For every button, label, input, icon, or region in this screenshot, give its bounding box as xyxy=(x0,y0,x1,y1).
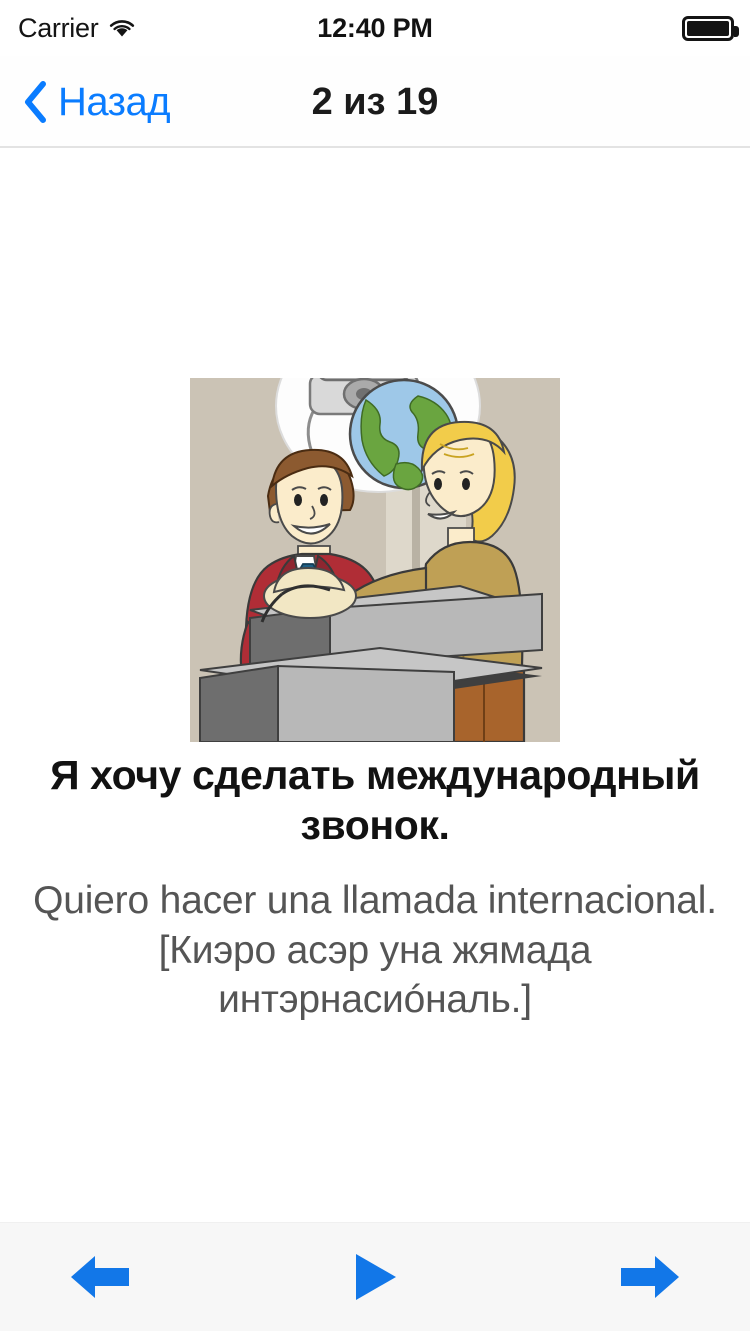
battery-icon xyxy=(682,16,734,41)
phrase-transliteration-text: [Киэро асэр уна жямада интэрнасиóналь.] xyxy=(20,926,730,1025)
next-button[interactable] xyxy=(590,1232,710,1322)
status-bar-center: 12:40 PM xyxy=(0,0,750,56)
phrase-native-text: Я хочу сделать международный звонок. xyxy=(20,750,730,850)
phrase-content: Я хочу сделать международный звонок. Qui… xyxy=(0,150,750,1222)
play-triangle-icon xyxy=(352,1251,398,1303)
navigation-bar: Назад 2 из 19 xyxy=(0,56,750,148)
hotel-reception-illustration xyxy=(190,378,560,742)
phrase-text-block: Я хочу сделать международный звонок. Qui… xyxy=(0,750,750,1025)
previous-button[interactable] xyxy=(40,1232,160,1322)
illustration-container xyxy=(190,378,560,742)
arrow-right-icon xyxy=(619,1251,681,1303)
battery-fill xyxy=(687,21,729,36)
play-button[interactable] xyxy=(315,1232,435,1322)
arrow-left-icon xyxy=(69,1251,131,1303)
bottom-toolbar xyxy=(0,1222,750,1331)
clock-label: 12:40 PM xyxy=(317,13,432,44)
status-bar: Carrier 12:40 PM xyxy=(0,0,750,56)
app-screen: Carrier 12:40 PM xyxy=(0,0,750,1331)
page-title: 2 из 19 xyxy=(0,56,750,148)
phrase-foreign-text: Quiero hacer una llamada internacional. xyxy=(20,876,730,926)
status-bar-right xyxy=(682,0,734,56)
